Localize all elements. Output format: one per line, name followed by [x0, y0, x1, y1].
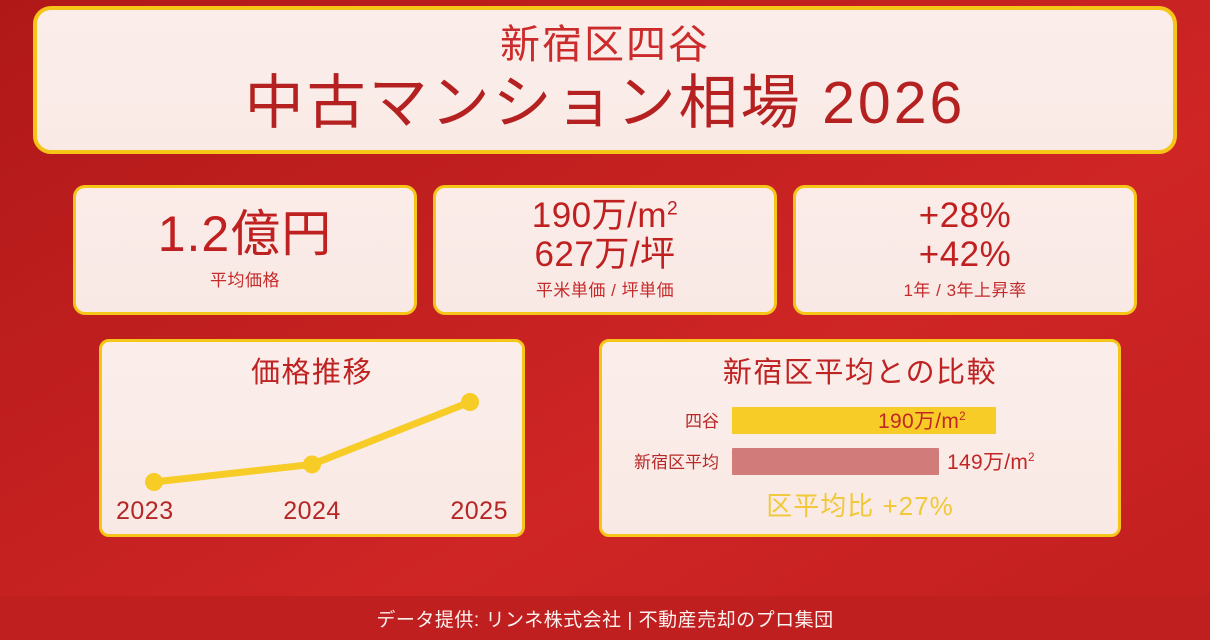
bar-value-yotsuya: 190万/m2	[878, 405, 966, 435]
superscript-two-icon: 2	[1028, 452, 1035, 464]
average-price-value: 1.2億円	[158, 207, 333, 261]
stat-cards-row: 1.2億円 平均価格 190万/m2 627万/坪 平米単価 / 坪単価 +28…	[73, 185, 1137, 315]
unit-price-per-tsubo: 627万/坪	[534, 235, 675, 274]
comparison-bar-chart: 四谷 190万/m2 新宿区平均 149万/m2	[602, 404, 1118, 477]
superscript-two-icon: 2	[959, 411, 966, 423]
comparison-note: 区平均比 +27%	[602, 486, 1118, 523]
trend-point-2025	[461, 393, 479, 411]
price-trend-title: 価格推移	[102, 358, 522, 390]
bar-value-ward-average-text: 149万/m	[947, 451, 1028, 474]
bar-label-ward-average: 新宿区平均	[614, 448, 732, 473]
comparison-title: 新宿区平均との比較	[602, 358, 1118, 390]
unit-price-label: 平米単価 / 坪単価	[536, 281, 674, 301]
comparison-panel: 新宿区平均との比較 四谷 190万/m2 新宿区平均 149万/m2 区平均比 …	[599, 339, 1121, 537]
trend-x-axis-labels: 202320242025	[102, 497, 522, 526]
page-subtitle: 新宿区四谷	[500, 24, 710, 66]
growth-rate-1y: +28%	[919, 196, 1012, 235]
unit-price-per-sqm: 190万/m2	[532, 196, 679, 235]
bar-value-ward-average: 149万/m2	[947, 446, 1035, 476]
bar-fill-ward-average	[732, 448, 939, 475]
bar-value-yotsuya-text: 190万/m	[878, 410, 959, 433]
stat-card-growth-rate: +28% +42% 1年 / 3年上昇率	[793, 185, 1137, 315]
trend-x-label-2024: 2024	[283, 497, 341, 526]
bar-track-ward-average: 149万/m2	[732, 445, 1104, 477]
stat-card-average-price: 1.2億円 平均価格	[73, 185, 417, 315]
infographic-root: 新宿区四谷 中古マンション相場 2026 1.2億円 平均価格 190万/m2 …	[0, 0, 1210, 640]
bar-row-ward-average: 新宿区平均 149万/m2	[614, 445, 1104, 477]
footer-credit: データ提供: リンネ株式会社 | 不動産売却のプロ集団	[376, 605, 833, 632]
growth-rate-3y: +42%	[919, 235, 1012, 274]
unit-price-per-sqm-text: 190万/m	[532, 196, 667, 235]
price-trend-line-chart	[102, 390, 522, 494]
bar-label-yotsuya: 四谷	[614, 407, 732, 432]
trend-x-label-2023: 2023	[116, 497, 174, 526]
bar-row-yotsuya: 四谷 190万/m2	[614, 404, 1104, 436]
stat-card-unit-price: 190万/m2 627万/坪 平米単価 / 坪単価	[433, 185, 777, 315]
footer-band: データ提供: リンネ株式会社 | 不動産売却のプロ集団	[0, 596, 1210, 640]
bar-track-yotsuya: 190万/m2	[732, 404, 1104, 436]
page-title: 中古マンション相場 2026	[245, 70, 966, 136]
title-card: 新宿区四谷 中古マンション相場 2026	[33, 6, 1177, 154]
growth-rate-label: 1年 / 3年上昇率	[903, 281, 1026, 301]
average-price-label: 平均価格	[210, 271, 280, 291]
trend-point-2023	[145, 473, 163, 491]
trend-x-label-2025: 2025	[450, 497, 508, 526]
price-trend-panel: 価格推移 202320242025	[99, 339, 525, 537]
superscript-two-icon: 2	[667, 198, 678, 219]
trend-point-2024	[303, 455, 321, 473]
